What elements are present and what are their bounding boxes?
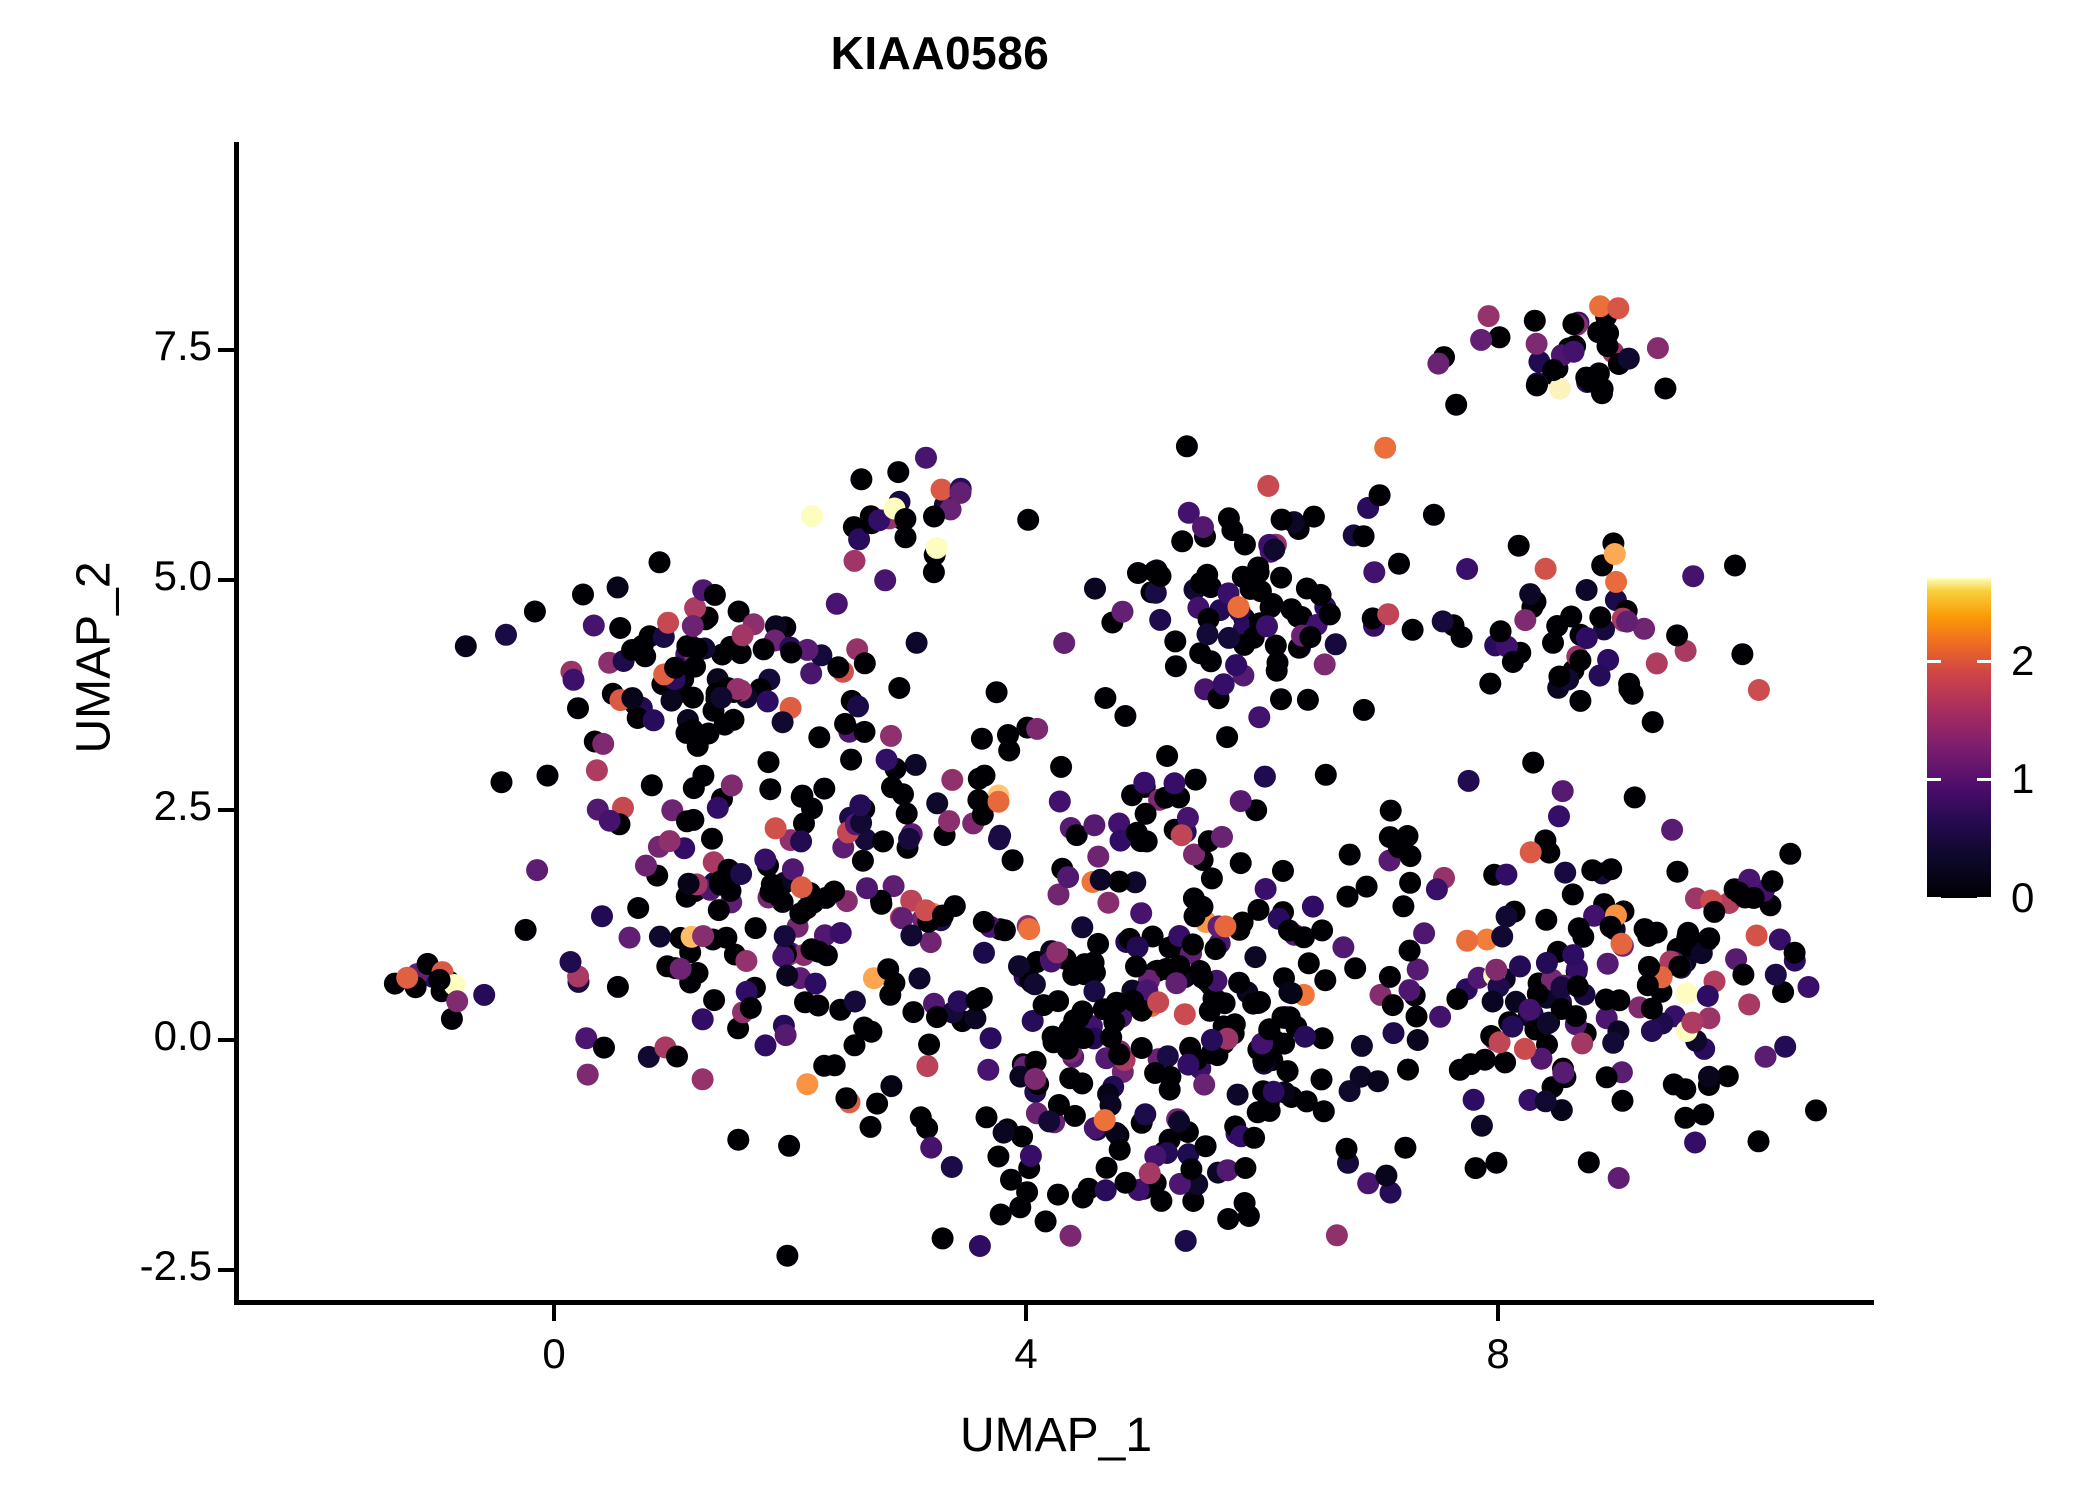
- scatter-point: [1508, 535, 1530, 557]
- scatter-point: [1205, 938, 1227, 960]
- scatter-point: [727, 1129, 749, 1151]
- scatter-point: [1263, 539, 1285, 561]
- scatter-point: [1784, 942, 1806, 964]
- scatter-point: [1356, 876, 1378, 898]
- scatter-point: [1746, 925, 1768, 947]
- colorbar-gradient: [1927, 578, 1991, 898]
- scatter-point: [1297, 689, 1319, 711]
- scatter-point: [1165, 972, 1187, 994]
- scatter-point: [1296, 1090, 1318, 1112]
- scatter-point: [1072, 1187, 1094, 1209]
- x-tick-label: 4: [926, 1330, 1126, 1378]
- scatter-point: [1278, 981, 1300, 1003]
- scatter-point: [1047, 1184, 1069, 1206]
- scatter-point: [1388, 553, 1410, 575]
- scatter-point: [790, 830, 812, 852]
- scatter-point: [627, 897, 649, 919]
- scatter-point: [1255, 878, 1277, 900]
- scatter-point: [1189, 642, 1211, 664]
- scatter-point: [1064, 1105, 1086, 1127]
- scatter-point: [1311, 1068, 1333, 1090]
- scatter-point: [1542, 359, 1564, 381]
- scatter-point: [1150, 565, 1172, 587]
- x-tick-mark: [552, 1305, 556, 1321]
- scatter-point: [1024, 1068, 1046, 1090]
- scatter-point: [1474, 1049, 1496, 1071]
- scatter-point: [1579, 371, 1601, 393]
- scatter-point: [1336, 1138, 1358, 1160]
- scatter-point: [987, 1146, 1009, 1168]
- scatter-point: [941, 1156, 963, 1178]
- scatter-point: [778, 1135, 800, 1157]
- scatter-point: [1325, 633, 1347, 655]
- scatter-point: [834, 713, 856, 735]
- scatter-point: [1779, 843, 1801, 865]
- scatter-point: [757, 690, 779, 712]
- scatter-point: [1380, 800, 1402, 822]
- scatter-point: [1278, 919, 1300, 941]
- scatter-point: [1456, 558, 1478, 580]
- scatter-point: [1096, 1157, 1118, 1179]
- scatter-point: [1240, 578, 1262, 600]
- scatter-point: [1406, 1006, 1428, 1028]
- scatter-point: [1514, 609, 1536, 631]
- scatter-point: [1589, 665, 1611, 687]
- scatter-point: [796, 897, 818, 919]
- scatter-point: [709, 871, 731, 893]
- scatter-point: [745, 917, 767, 939]
- scatter-point: [1581, 859, 1603, 881]
- scatter-point: [1197, 623, 1219, 645]
- scatter-point: [1634, 918, 1656, 940]
- scatter-point: [854, 652, 876, 674]
- scatter-point: [1748, 1130, 1770, 1152]
- scatter-point: [993, 1122, 1015, 1144]
- scatter-point: [1326, 1224, 1348, 1246]
- scatter-point: [880, 725, 902, 747]
- scatter-point: [1597, 322, 1619, 344]
- scatter-point: [1728, 882, 1750, 904]
- scatter-point: [1353, 699, 1375, 721]
- scatter-point: [844, 550, 866, 572]
- scatter-point: [1542, 632, 1564, 654]
- scatter-point: [1642, 711, 1664, 733]
- scatter-point: [686, 638, 708, 660]
- scatter-point: [1568, 917, 1590, 939]
- scatter-point: [941, 769, 963, 791]
- scatter-point: [1423, 504, 1445, 526]
- scatter-point: [968, 768, 990, 790]
- scatter-point: [990, 1204, 1012, 1226]
- y-tick-mark: [218, 808, 234, 812]
- scatter-point: [1168, 1111, 1190, 1133]
- y-tick-label: 7.5: [154, 322, 212, 370]
- scatter-point: [1248, 706, 1270, 728]
- scatter-point: [670, 958, 692, 980]
- scatter-point: [572, 584, 594, 606]
- scatter-point: [994, 919, 1016, 941]
- scatter-point: [938, 810, 960, 832]
- scatter-point: [1332, 936, 1354, 958]
- scatter-point: [1234, 534, 1256, 556]
- scatter-point: [1127, 562, 1149, 584]
- scatter-point: [707, 797, 729, 819]
- colorbar-tick-mark: [1927, 897, 1991, 900]
- scatter-point: [1337, 886, 1359, 908]
- scatter-point: [776, 1245, 798, 1267]
- scatter-point: [830, 922, 852, 944]
- scatter-point: [1083, 952, 1105, 974]
- colorbar-tick-mark: [1927, 778, 1991, 781]
- scatter-point: [1046, 941, 1068, 963]
- scatter-point: [898, 828, 920, 850]
- scatter-point: [826, 593, 848, 615]
- scatter-point: [1049, 791, 1071, 813]
- scatter-point: [1214, 915, 1236, 937]
- scatter-point: [1377, 603, 1399, 625]
- scatter-point: [635, 855, 657, 877]
- scatter-point: [692, 925, 714, 947]
- scatter-point: [1502, 651, 1524, 673]
- scatter-point: [856, 877, 878, 899]
- scatter-point: [1263, 1081, 1285, 1103]
- scatter-point: [1489, 326, 1511, 348]
- scatter-point: [1571, 1032, 1593, 1054]
- scatter-point: [1134, 1103, 1156, 1125]
- scatter-point: [1230, 790, 1252, 812]
- scatter-point: [1495, 864, 1517, 886]
- color-legend: 210: [1927, 578, 1991, 898]
- scatter-point: [1731, 643, 1753, 665]
- scatter-point: [661, 690, 683, 712]
- scatter-point: [920, 931, 942, 953]
- scatter-point: [1604, 543, 1626, 565]
- scatter-point: [1270, 688, 1292, 710]
- scatter-point: [1407, 959, 1429, 981]
- scatter-point: [888, 677, 910, 699]
- scatter-point: [1353, 525, 1375, 547]
- scatter-point: [791, 785, 813, 807]
- scatter-point: [1748, 679, 1770, 701]
- scatter-point: [1199, 1000, 1221, 1022]
- scatter-point: [1569, 649, 1591, 671]
- scatter-point: [1125, 956, 1147, 978]
- scatter-point: [1576, 579, 1598, 601]
- scatter-point: [649, 551, 671, 573]
- scatter-point: [1382, 994, 1404, 1016]
- scatter-point: [607, 576, 629, 598]
- scatter-point: [1618, 673, 1640, 695]
- scatter-point: [1666, 861, 1688, 883]
- x-tick-label: 8: [1398, 1330, 1598, 1378]
- scatter-point: [429, 969, 451, 991]
- scatter-point: [1093, 998, 1115, 1020]
- scatter-point: [772, 711, 794, 733]
- scatter-point: [1234, 1192, 1256, 1214]
- scatter-point: [703, 989, 725, 1011]
- scatter-point: [1183, 887, 1205, 909]
- scatter-point: [1608, 1167, 1630, 1189]
- scatter-point: [1449, 1059, 1471, 1081]
- scatter-point: [931, 479, 953, 501]
- scatter-point: [796, 1073, 818, 1095]
- scatter-point: [844, 991, 866, 1013]
- scatter-point: [567, 697, 589, 719]
- scatter-point: [1159, 1066, 1181, 1088]
- scatter-point: [1213, 673, 1235, 695]
- scatter-point: [966, 990, 988, 1012]
- scatter-point: [1267, 652, 1289, 674]
- scatter-point: [1038, 1110, 1060, 1132]
- scatter-point: [916, 1055, 938, 1077]
- scatter-point: [915, 447, 937, 469]
- scatter-point: [1367, 1070, 1389, 1092]
- scatter-point: [849, 794, 871, 816]
- scatter-point: [876, 749, 898, 771]
- scatter-point: [1738, 994, 1760, 1016]
- scatter-point: [872, 830, 894, 852]
- scatter-point: [1256, 615, 1278, 637]
- scatter-point: [560, 951, 582, 973]
- scatter-point: [1062, 964, 1084, 986]
- scatter-point: [1115, 1172, 1137, 1194]
- scatter-point: [989, 825, 1011, 847]
- scatter-point: [887, 461, 909, 483]
- scatter-point: [1227, 1084, 1249, 1106]
- scatter-point: [1394, 1137, 1416, 1159]
- scatter-point: [1122, 990, 1144, 1012]
- y-tick-mark: [218, 1268, 234, 1272]
- scatter-point: [1520, 841, 1542, 863]
- scatter-point: [455, 635, 477, 657]
- scatter-point: [666, 1046, 688, 1068]
- scatter-point: [1761, 870, 1783, 892]
- scatter-point: [1084, 578, 1106, 600]
- scatter-point: [1463, 1089, 1485, 1111]
- scatter-point: [780, 642, 802, 664]
- scatter-point: [807, 995, 829, 1017]
- scatter-point: [998, 740, 1020, 762]
- scatter-point: [1254, 766, 1276, 788]
- scatter-point: [1374, 437, 1396, 459]
- scatter-point: [1755, 1046, 1777, 1068]
- scatter-point: [740, 997, 762, 1019]
- scatter-point: [1432, 610, 1454, 632]
- scatter-point: [971, 728, 993, 750]
- scatter-point: [524, 601, 546, 623]
- scatter-point: [801, 938, 823, 960]
- scatter-point: [1774, 1036, 1796, 1058]
- scatter-point: [1109, 1139, 1131, 1161]
- scatter-point: [775, 1024, 797, 1046]
- scatter-point: [682, 719, 704, 741]
- scatter-point: [1180, 1158, 1202, 1180]
- scatter-point: [909, 967, 931, 989]
- scatter-point: [1562, 944, 1584, 966]
- colorbar-tick-label: 0: [2011, 874, 2034, 922]
- scatter-point: [735, 950, 757, 972]
- scatter-point: [774, 925, 796, 947]
- y-axis-title: UMAP_2: [67, 308, 122, 1008]
- scatter-point: [1535, 1090, 1557, 1112]
- scatter-point: [1526, 374, 1548, 396]
- scatter-point: [676, 810, 698, 832]
- scatter-point: [1242, 993, 1264, 1015]
- scatter-point: [641, 774, 663, 796]
- scatter-point: [1363, 561, 1385, 583]
- scatter-point: [932, 905, 954, 927]
- scatter-point: [1681, 1012, 1703, 1034]
- scatter-point: [1379, 966, 1401, 988]
- scatter-point: [926, 1006, 948, 1028]
- scatter-point: [1479, 673, 1501, 695]
- scatter-point: [772, 946, 794, 968]
- scatter-point: [683, 777, 705, 799]
- scatter-point: [1611, 933, 1633, 955]
- scatter-point: [526, 859, 548, 881]
- scatter-point: [446, 990, 468, 1012]
- scatter-point: [932, 1227, 954, 1249]
- scatter-point: [923, 506, 945, 528]
- scatter-point: [1059, 1067, 1081, 1089]
- scatter-point: [918, 1034, 940, 1056]
- scatter-point: [664, 657, 686, 679]
- scatter-point: [721, 774, 743, 796]
- scatter-point: [1552, 1062, 1574, 1084]
- scatter-point: [1383, 1022, 1405, 1044]
- scatter-point: [977, 1059, 999, 1081]
- scatter-point: [1017, 509, 1039, 531]
- scatter-point: [1053, 632, 1075, 654]
- scatter-point: [1139, 1162, 1161, 1184]
- scatter-point: [723, 709, 745, 731]
- scatter-point: [659, 830, 681, 852]
- scatter-point: [1018, 918, 1040, 940]
- scatter-point: [1616, 611, 1638, 633]
- scatter-point: [577, 1064, 599, 1086]
- scatter-point: [1112, 601, 1134, 623]
- scatter-point: [586, 759, 608, 781]
- x-tick-mark: [1024, 1305, 1028, 1321]
- scatter-point: [609, 617, 631, 639]
- scatter-point: [1698, 1066, 1720, 1088]
- scatter-point: [988, 791, 1010, 813]
- scatter-point: [1375, 1165, 1397, 1187]
- scatter-point: [1647, 337, 1669, 359]
- scatter-point: [926, 537, 948, 559]
- scatter-point: [824, 1054, 846, 1076]
- scatter-point: [1569, 690, 1591, 712]
- scatter-point: [1548, 805, 1570, 827]
- scatter-point: [515, 919, 537, 941]
- scatter-point: [1565, 1005, 1587, 1027]
- scatter-point: [657, 612, 679, 634]
- scatter-point: [1217, 1208, 1239, 1230]
- scatter-point: [1608, 989, 1630, 1011]
- scatter-point: [1244, 946, 1266, 968]
- scatter-point: [881, 776, 903, 798]
- scatter-point: [1262, 593, 1284, 615]
- scatter-point: [1535, 909, 1557, 931]
- scatter-point: [1258, 1018, 1280, 1040]
- scatter-point: [1526, 333, 1548, 355]
- scatter-point: [973, 911, 995, 933]
- scatter-point: [877, 958, 899, 980]
- scatter-point: [1677, 922, 1699, 944]
- scatter-point: [854, 721, 876, 743]
- scatter-point: [1596, 1066, 1618, 1088]
- scatter-point: [1765, 964, 1787, 986]
- scatter-point: [1427, 353, 1449, 375]
- scatter-point: [1397, 1059, 1419, 1081]
- scatter-point: [765, 817, 787, 839]
- scatter-point: [1445, 394, 1467, 416]
- scatter-point: [621, 687, 643, 709]
- scatter-point: [1147, 991, 1169, 1013]
- scatter-point: [1637, 974, 1659, 996]
- scatter-point: [753, 638, 775, 660]
- scatter-point: [1057, 866, 1079, 888]
- scatter-point: [1002, 849, 1024, 871]
- scatter-point: [1522, 752, 1544, 774]
- scatter-point: [1612, 1090, 1634, 1112]
- scatter-point: [847, 695, 869, 717]
- scatter-point: [1071, 916, 1093, 938]
- scatter-point: [692, 1068, 714, 1090]
- colorbar-tick-mark: [1927, 660, 1991, 663]
- scatter-point: [1176, 435, 1198, 457]
- scatter-point: [1050, 756, 1072, 778]
- scatter-point: [1257, 475, 1279, 497]
- scatter-point: [980, 1027, 1002, 1049]
- scatter-point: [969, 1235, 991, 1257]
- y-tick-mark: [218, 348, 234, 352]
- scatter-point: [1230, 852, 1252, 874]
- scatter-point: [1496, 906, 1518, 928]
- scatter-point: [1000, 1169, 1022, 1191]
- scatter-point: [1272, 860, 1294, 882]
- scatter-point: [1413, 922, 1435, 944]
- colorbar-tick-label: 2: [2011, 637, 2034, 685]
- scatter-point: [1485, 959, 1507, 981]
- scatter-point: [1201, 1029, 1223, 1051]
- scatter-point: [730, 863, 752, 885]
- scatter-point: [758, 751, 780, 773]
- scatter-point: [813, 778, 835, 800]
- scatter-point: [1654, 378, 1676, 400]
- scatter-point: [1073, 1027, 1095, 1049]
- scatter-point: [599, 810, 621, 832]
- scatter-point: [1369, 484, 1391, 506]
- scatter-point: [1602, 1032, 1624, 1054]
- scatter-point: [1271, 509, 1293, 531]
- scatter-point: [1114, 705, 1136, 727]
- scatter-point: [902, 1001, 924, 1023]
- scatter-point: [1165, 655, 1187, 677]
- scatter-point: [708, 899, 730, 921]
- scatter-point: [1033, 994, 1055, 1016]
- scatter-point: [495, 624, 517, 646]
- scatter-point: [591, 905, 613, 927]
- scatter-point: [1562, 313, 1584, 335]
- scatter-point: [583, 615, 605, 637]
- scatter-point: [923, 561, 945, 583]
- scatter-point: [1399, 979, 1421, 1001]
- scatter-point: [1605, 571, 1627, 593]
- scatter-point: [537, 765, 559, 787]
- scatter-point: [860, 1116, 882, 1138]
- scatter-point: [701, 828, 723, 850]
